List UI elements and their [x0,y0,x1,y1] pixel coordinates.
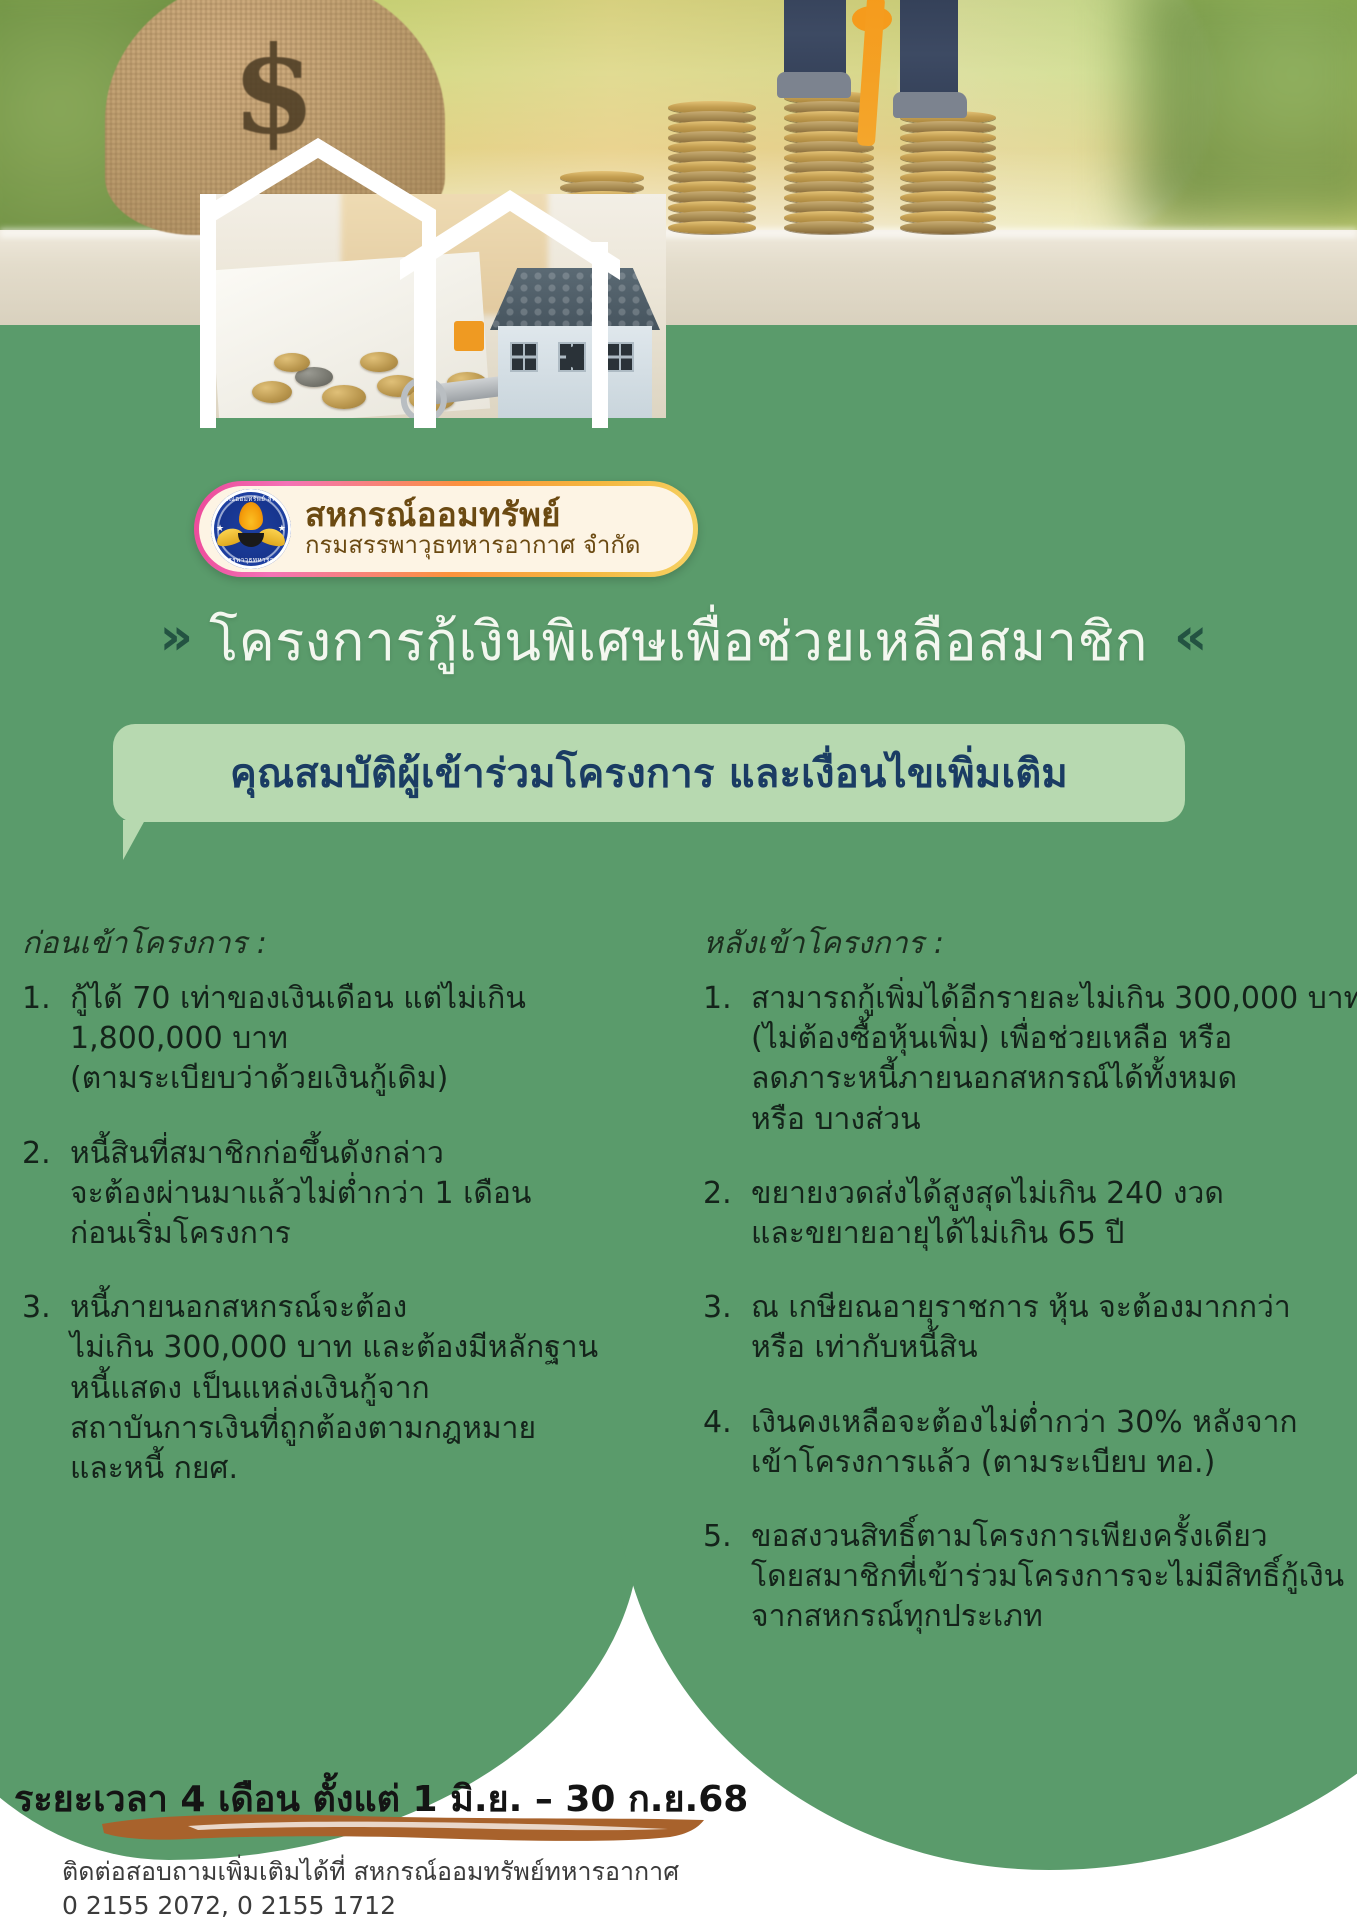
page-title: โครงการกู้เงินพิเศษเพื่อช่วยเหลือสมาชิก [209,598,1148,684]
list-item-body: หนี้ภายนอกสหกรณ์จะต้อง ไม่เกิน 300,000 บ… [70,1288,598,1489]
after-joining-heading: หลังเข้าโครงการ : [703,920,1335,967]
list-item-line: (ไม่ต้องซื้อหุ้นเพิ่ม) เพื่อช่วยเหลือ หร… [751,1019,1357,1059]
contact-line-1: ติดต่อสอบถามเพิ่มเติมได้ที่ สหกรณ์ออมทรั… [62,1855,679,1889]
list-item-number: 4. [703,1403,739,1483]
list-item-line: หนี้ภายนอกสหกรณ์จะต้อง [70,1288,598,1328]
list-item-line: หนี้แสดง เป็นแหล่งเงินกู้จาก [70,1369,598,1409]
list-item-body: ขยายงวดส่งได้สูงสุดไม่เกิน 240 งวด และขย… [751,1174,1224,1254]
before-joining-list: 1. กู้ได้ 70 เท่าของเงินเดือน แต่ไม่เกิน… [22,979,655,1489]
figurine-leg-left [784,0,846,94]
list-item-body: ขอสงวนสิทธิ์ตามโครงการเพียงครั้งเดียว โด… [751,1517,1344,1638]
photo-bokeh-right [1137,0,1357,230]
list-item-line: จะต้องผ่านมาแล้วไม่ต่ำกว่า 1 เดือน [70,1174,531,1214]
list-item-number: 3. [22,1288,58,1489]
list-item-line: ขยายงวดส่งได้สูงสุดไม่เกิน 240 งวด [751,1174,1224,1214]
list-item-line: (ตามระเบียบว่าด้วยเงินกู้เดิม) [70,1059,526,1099]
emblem-arc-bottom-text: กรมสรรพาวุธทหารอากาศ [211,555,291,565]
list-item-line: หนี้สินที่สมาชิกก่อขึ้นดังกล่าว [70,1134,531,1174]
list-item: 3. หนี้ภายนอกสหกรณ์จะต้อง ไม่เกิน 300,00… [22,1288,655,1489]
house-frame-photo [200,138,680,418]
list-item-line: กู้ได้ 70 เท่าของเงินเดือน แต่ไม่เกิน [70,979,526,1019]
list-item: 5. ขอสงวนสิทธิ์ตามโครงการเพียงครั้งเดียว… [703,1517,1335,1638]
list-item-number: 5. [703,1517,739,1638]
list-item-line: จากสหกรณ์ทุกประเภท [751,1597,1344,1637]
badge-title: สหกรณ์ออมทรัพย์ [305,498,641,533]
list-item: 1. สามารถกู้เพิ่มได้อีกรายละไม่เกิน 300,… [703,979,1335,1140]
list-item-line: สถาบันการเงินที่ถูกต้องตามกฎหมาย [70,1409,598,1449]
list-item-line: เงินคงเหลือจะต้องไม่ต่ำกว่า 30% หลังจาก [751,1403,1298,1443]
list-item-line: ไม่เกิน 300,000 บาท และต้องมีหลักฐาน [70,1328,598,1368]
chevron-left-decor-icon: « [1174,611,1198,671]
main-title-row: » โครงการกู้เงินพิเศษเพื่อช่วยเหลือสมาชิ… [0,598,1357,684]
list-item-line: โดยสมาชิกที่เข้าร่วมโครงการจะไม่มีสิทธิ์… [751,1557,1344,1597]
list-item-line: หรือ บางส่วน [751,1100,1357,1140]
list-item-line: ขอสงวนสิทธิ์ตามโครงการเพียงครั้งเดียว [751,1517,1344,1557]
figurine-leg-right [900,0,958,114]
list-item-number: 3. [703,1288,739,1368]
list-item-line: ณ เกษียณอายุราชการ หุ้น จะต้องมากกว่า [751,1288,1291,1328]
after-joining-column: หลังเข้าโครงการ : 1. สามารถกู้เพิ่มได้อี… [695,920,1335,1671]
list-item-body: กู้ได้ 70 เท่าของเงินเดือน แต่ไม่เกิน 1,… [70,979,526,1100]
before-joining-heading: ก่อนเข้าโครงการ : [22,920,655,967]
list-item: 3. ณ เกษียณอายุราชการ หุ้น จะต้องมากกว่า… [703,1288,1335,1368]
before-joining-column: ก่อนเข้าโครงการ : 1. กู้ได้ 70 เท่าของเง… [22,920,655,1671]
coin-stack-4 [900,114,996,234]
list-item-line: และขยายอายุได้ไม่เกิน 65 ปี [751,1214,1224,1254]
chevron-right-decor-icon: » [160,611,184,671]
list-item-body: เงินคงเหลือจะต้องไม่ต่ำกว่า 30% หลังจาก … [751,1403,1298,1483]
house-outline-frame-icon [200,138,680,428]
list-item-line: 1,800,000 บาท [70,1019,526,1059]
coin-stack-2 [668,104,756,234]
list-item: 2. หนี้สินที่สมาชิกก่อขึ้นดังกล่าว จะต้อ… [22,1134,655,1255]
list-item-line: และหนี้ กยศ. [70,1449,598,1489]
list-item: 4. เงินคงเหลือจะต้องไม่ต่ำกว่า 30% หลังจ… [703,1403,1335,1483]
list-item-number: 1. [22,979,58,1100]
list-item: 1. กู้ได้ 70 เท่าของเงินเดือน แต่ไม่เกิน… [22,979,655,1100]
list-item-line: ลดภาระหนี้ภายนอกสหกรณ์ได้ทั้งหมด [751,1059,1357,1099]
emblem-star-left-icon: ★ [216,524,224,534]
cooperative-emblem-icon: สหกรณ์ออมทรัพย์ สพ.ทอ. จำกัด ★ ★ กรมสรรพ… [211,489,291,569]
list-item-line: สามารถกู้เพิ่มได้อีกรายละไม่เกิน 300,000… [751,979,1357,1019]
after-joining-list: 1. สามารถกู้เพิ่มได้อีกรายละไม่เกิน 300,… [703,979,1335,1637]
list-item: 2. ขยายงวดส่งได้สูงสุดไม่เกิน 240 งวด แล… [703,1174,1335,1254]
list-item-number: 2. [22,1134,58,1255]
list-item-line: เข้าโครงการแล้ว (ตามระเบียบ ทอ.) [751,1443,1298,1483]
contact-line-2: 0 2155 2072, 0 2155 1712 [62,1889,679,1920]
subtitle-text: คุณสมบัติผู้เข้าร่วมโครงการ และเงื่อนไขเ… [230,741,1068,805]
list-item-number: 2. [703,1174,739,1254]
cooperative-logo-badge: สหกรณ์ออมทรัพย์ สพ.ทอ. จำกัด ★ ★ กรมสรรพ… [194,481,698,577]
subtitle-speech-bubble: คุณสมบัติผู้เข้าร่วมโครงการ และเงื่อนไขเ… [113,724,1185,822]
contact-info: ติดต่อสอบถามเพิ่มเติมได้ที่ สหกรณ์ออมทรั… [62,1855,679,1920]
badge-subtitle: กรมสรรพาวุธทหารอากาศ จำกัด [305,533,641,558]
poster-root: $ [0,0,1357,1920]
list-item-body: หนี้สินที่สมาชิกก่อขึ้นดังกล่าว จะต้องผ่… [70,1134,531,1255]
list-item-number: 1. [703,979,739,1140]
list-item-line: ก่อนเริ่มโครงการ [70,1214,531,1254]
list-item-body: สามารถกู้เพิ่มได้อีกรายละไม่เกิน 300,000… [751,979,1357,1140]
brush-stroke-decor-icon [98,1812,708,1842]
conditions-columns: ก่อนเข้าโครงการ : 1. กู้ได้ 70 เท่าของเง… [0,920,1357,1671]
emblem-star-right-icon: ★ [278,524,286,534]
list-item-body: ณ เกษียณอายุราชการ หุ้น จะต้องมากกว่า หร… [751,1288,1291,1368]
list-item-line: หรือ เท่ากับหนี้สิน [751,1328,1291,1368]
